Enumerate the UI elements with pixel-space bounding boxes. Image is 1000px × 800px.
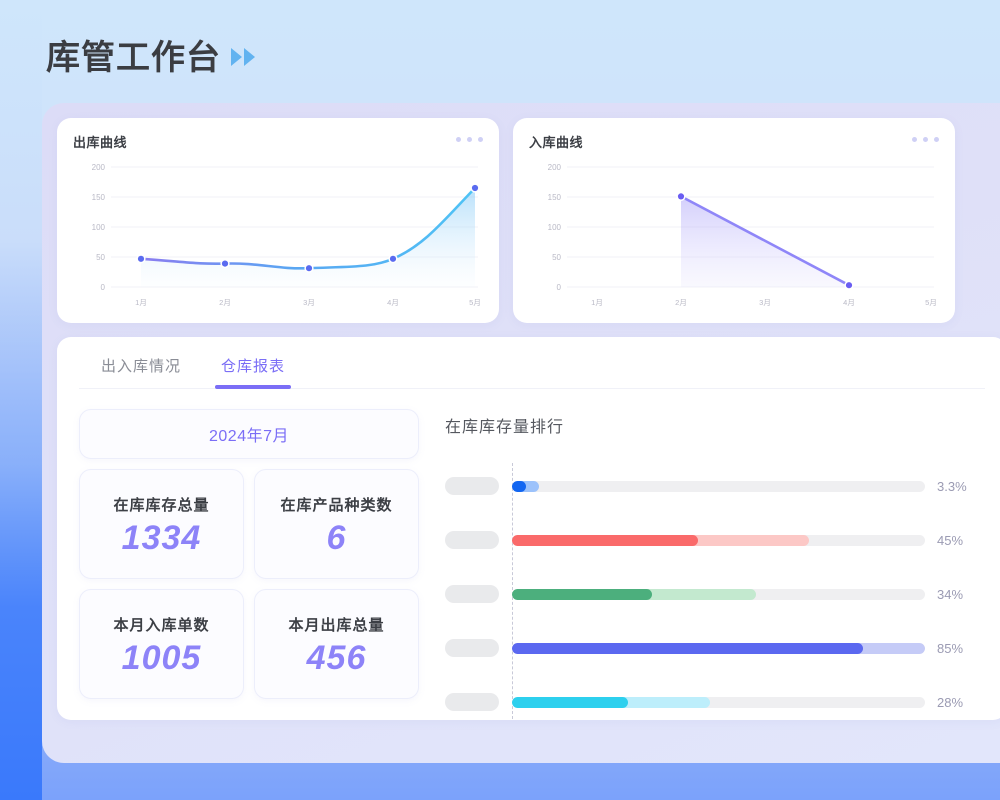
inbound-chart-header: 入库曲线 [529,132,939,151]
svg-text:0: 0 [101,283,106,292]
ranking-row-percent: 28% [937,695,985,710]
inbound-chart-title: 入库曲线 [529,132,583,151]
svg-text:3月: 3月 [303,298,315,307]
svg-text:3月: 3月 [759,298,771,307]
ranking-row-label-placeholder [445,693,499,711]
ranking-row-percent: 34% [937,587,985,602]
stats-column: 2024年7月 在库库存总量 1334 在库产品种类数 6 本月入库单数 100… [79,409,419,729]
kpi-card-product-types: 在库产品种类数 6 [254,469,419,579]
panel-body: 2024年7月 在库库存总量 1334 在库产品种类数 6 本月入库单数 100… [79,389,985,729]
ranking-row: 34% [445,567,985,621]
svg-text:100: 100 [92,223,106,232]
kpi-label: 本月入库单数 [113,614,209,635]
kpi-value: 456 [307,641,367,675]
ranking-row-bar-dark [512,697,628,708]
ranking-row-bar-dark [512,643,863,654]
ranking-row-track [512,643,925,654]
panel-tabs: 出入库情况 仓库报表 [79,355,985,389]
svg-text:200: 200 [92,163,106,172]
tab-inbound-outbound[interactable]: 出入库情况 [101,355,181,388]
ranking-bar-chart: 3.3% 45% [445,459,985,729]
svg-text:150: 150 [92,193,106,202]
svg-text:1月: 1月 [135,298,147,307]
double-right-arrow-icon [231,48,255,66]
report-panel: 出入库情况 仓库报表 2024年7月 在库库存总量 1334 在库产品种类数 6 [57,337,1000,720]
ranking-row-percent: 85% [937,641,985,656]
month-selector[interactable]: 2024年7月 [79,409,419,459]
ranking-row-percent: 45% [937,533,985,548]
ranking-row: 85% [445,621,985,675]
svg-text:200: 200 [548,163,562,172]
kpi-value: 1334 [122,521,202,555]
tab-warehouse-report[interactable]: 仓库报表 [221,355,285,388]
svg-text:5月: 5月 [925,298,937,307]
svg-text:4月: 4月 [843,298,855,307]
svg-text:50: 50 [552,253,561,262]
outbound-chart-title: 出库曲线 [73,132,127,151]
ranking-row-track [512,481,925,492]
inbound-plot-area: 200 150 100 50 0 1月 2月 3月 4月 5月 [529,157,939,315]
ranking-row-track [512,697,925,708]
kpi-label: 在库产品种类数 [280,494,392,515]
month-label: 2024年7月 [209,422,289,446]
ranking-row-bar-dark [512,535,698,546]
svg-text:2月: 2月 [219,298,231,307]
ranking-row: 28% [445,675,985,729]
ranking-column: 在库库存量排行 3.3% [445,409,985,729]
ranking-row-label-placeholder [445,531,499,549]
ranking-row-label-placeholder [445,639,499,657]
kpi-card-inbound-orders: 本月入库单数 1005 [79,589,244,699]
svg-text:1月: 1月 [591,298,603,307]
ranking-row-label-placeholder [445,585,499,603]
kpi-value: 6 [327,521,347,555]
svg-text:150: 150 [548,193,562,202]
page-title: 库管工作台 [46,30,255,79]
charts-row: 出库曲线 [57,118,1000,323]
svg-text:100: 100 [548,223,562,232]
ranking-row-bar-dark [512,589,652,600]
left-edge-accent-strip [0,0,42,800]
svg-text:5月: 5月 [469,298,481,307]
kpi-card-outbound-total: 本月出库总量 456 [254,589,419,699]
inbound-chart-card: 入库曲线 [513,118,955,323]
three-dots-icon[interactable] [912,132,939,142]
ranking-row-track [512,535,925,546]
outbound-chart-header: 出库曲线 [73,132,483,151]
outbound-chart-card: 出库曲线 [57,118,499,323]
kpi-label: 在库库存总量 [113,494,209,515]
ranking-row: 3.3% [445,459,985,513]
svg-text:2月: 2月 [675,298,687,307]
svg-text:50: 50 [96,253,105,262]
ranking-row-bar-dark [512,481,526,492]
page-title-text: 库管工作台 [46,30,221,79]
three-dots-icon[interactable] [456,132,483,142]
ranking-title: 在库库存量排行 [445,413,985,437]
ranking-row-label-placeholder [445,477,499,495]
svg-text:0: 0 [557,283,562,292]
kpi-value: 1005 [122,641,202,675]
ranking-row-percent: 3.3% [937,479,985,494]
kpi-grid: 在库库存总量 1334 在库产品种类数 6 本月入库单数 1005 本月出库总量… [79,469,419,699]
ranking-row: 45% [445,513,985,567]
ranking-row-track [512,589,925,600]
svg-text:4月: 4月 [387,298,399,307]
kpi-card-total-stock: 在库库存总量 1334 [79,469,244,579]
outbound-plot-area: 200 150 100 50 0 1月 2月 3月 4月 5月 [73,157,483,315]
dashboard-shell: 出库曲线 [42,103,1000,763]
kpi-label: 本月出库总量 [288,614,384,635]
